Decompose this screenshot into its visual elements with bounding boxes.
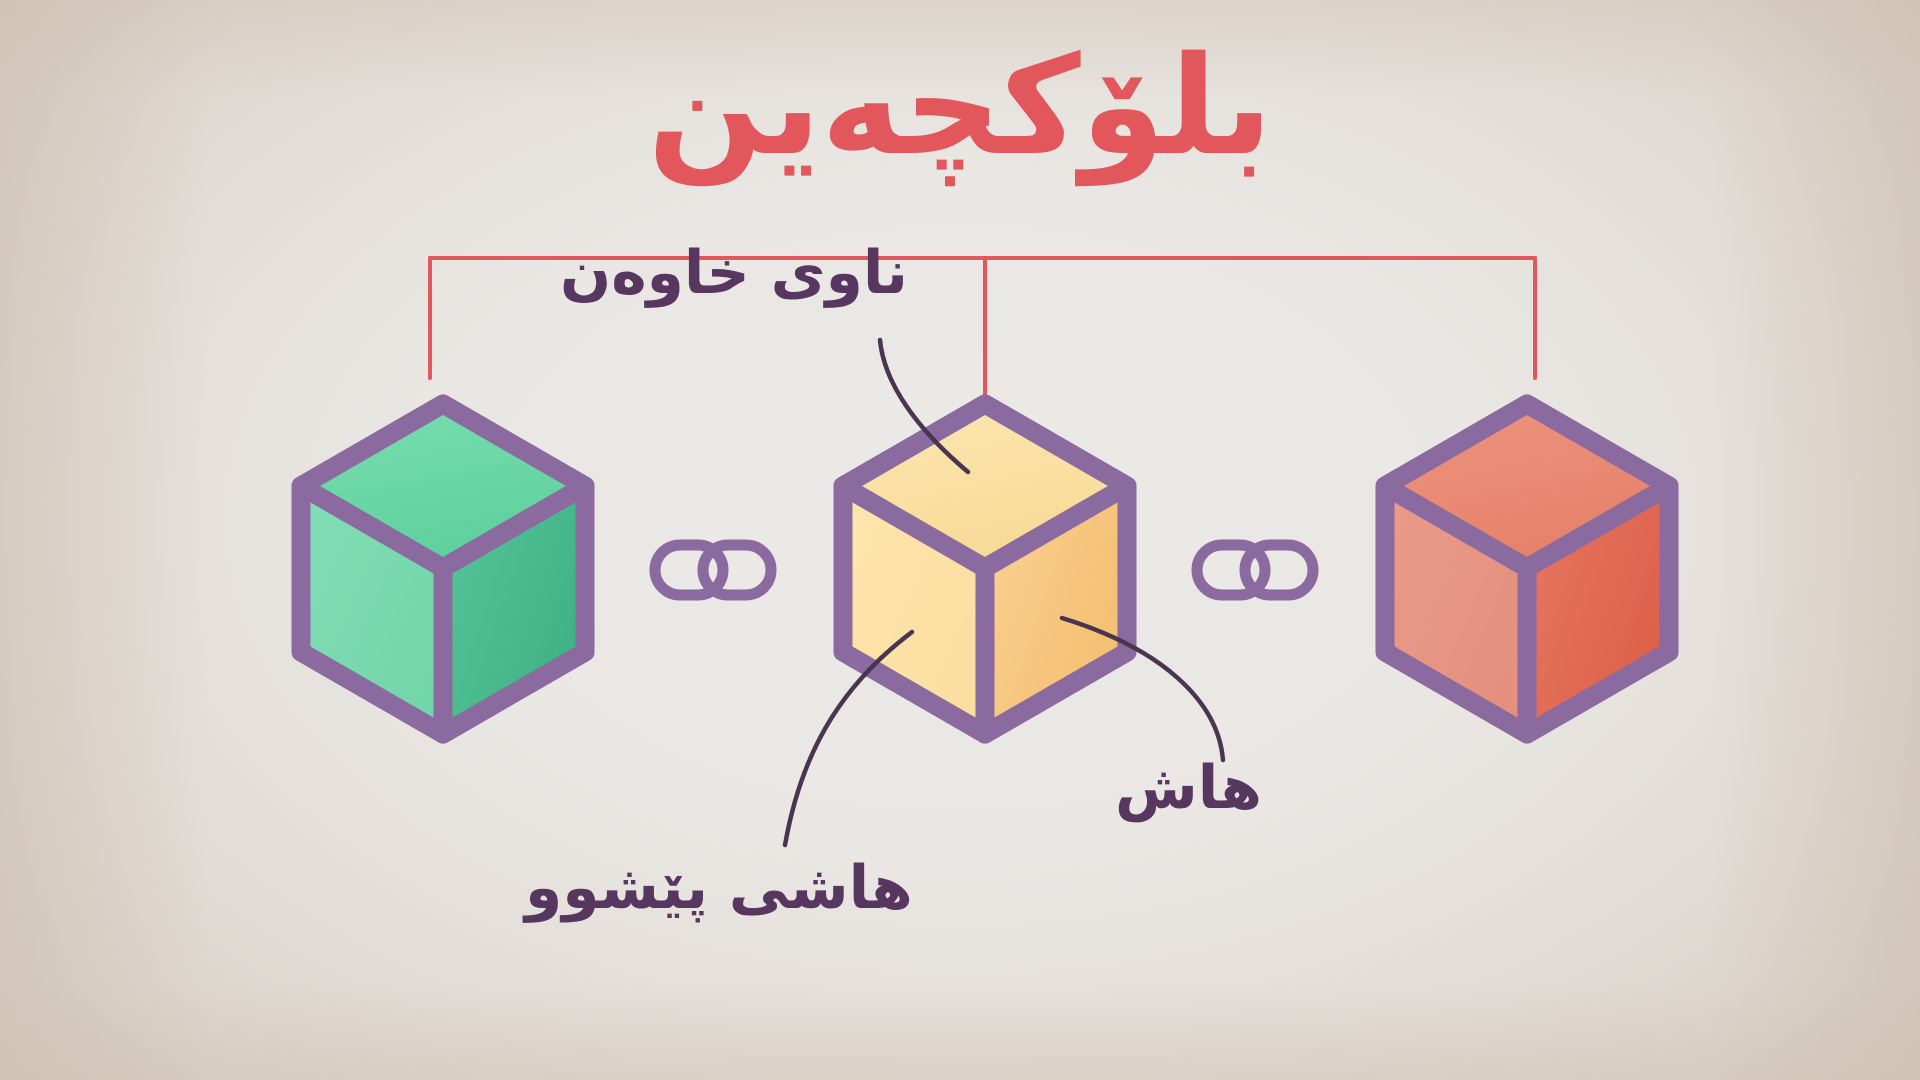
block-3-red <box>1385 404 1669 734</box>
chain-link-icon-right <box>1197 545 1313 595</box>
block-2-yellow <box>843 404 1127 734</box>
label-owner-name: ناوی خاوەن <box>560 240 908 306</box>
block-1-green <box>301 404 585 734</box>
chain-link-icon-left <box>655 545 771 595</box>
blockchain-diagram-canvas: بلۆکچەین <box>0 0 1920 1080</box>
diagram-graphics <box>0 0 1920 1080</box>
label-previous-hash: هاشی پێشوو <box>525 855 913 921</box>
label-hash: هاش <box>1115 755 1262 821</box>
